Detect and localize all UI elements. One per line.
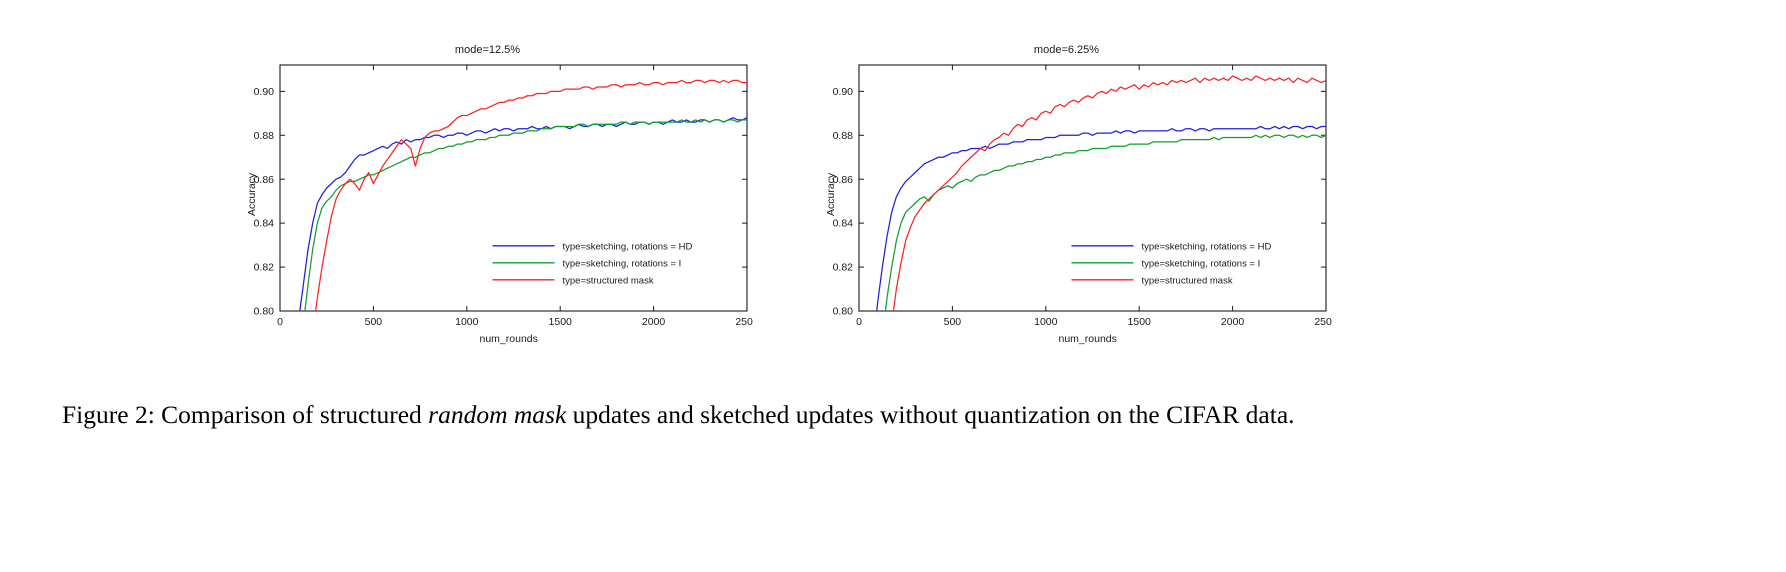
- svg-text:0.90: 0.90: [254, 86, 275, 98]
- chart-panels: mode=12.5% Accuracy num_rounds 050010001…: [222, 38, 1332, 348]
- svg-text:0: 0: [856, 316, 862, 328]
- svg-text:0.86: 0.86: [833, 174, 854, 186]
- svg-text:0.80: 0.80: [833, 306, 854, 318]
- caption-suffix: updates and sketched updates without qua…: [566, 400, 1294, 429]
- svg-text:type=sketching, rotations = I: type=sketching, rotations = I: [562, 258, 681, 269]
- svg-text:2500: 2500: [1314, 316, 1332, 328]
- svg-text:type=sketching, rotations = HD: type=sketching, rotations = HD: [562, 241, 692, 252]
- svg-text:0.84: 0.84: [254, 218, 275, 230]
- plot-area-right: 050010001500200025000.800.820.840.860.88…: [801, 38, 1332, 348]
- svg-text:1000: 1000: [1034, 316, 1058, 328]
- chart-panel-left: mode=12.5% Accuracy num_rounds 050010001…: [222, 38, 753, 348]
- svg-text:2000: 2000: [1221, 316, 1245, 328]
- svg-text:0.80: 0.80: [254, 306, 275, 318]
- svg-text:1000: 1000: [455, 316, 479, 328]
- svg-text:type=sketching, rotations = I: type=sketching, rotations = I: [1141, 258, 1260, 269]
- svg-text:type=structured mask: type=structured mask: [562, 275, 653, 286]
- svg-text:type=sketching, rotations = HD: type=sketching, rotations = HD: [1141, 241, 1271, 252]
- svg-text:type=structured mask: type=structured mask: [1141, 275, 1232, 286]
- chart-panel-right: mode=6.25% Accuracy num_rounds 050010001…: [801, 38, 1332, 348]
- plot-area-left: 050010001500200025000.800.820.840.860.88…: [222, 38, 753, 348]
- svg-text:0: 0: [277, 316, 283, 328]
- svg-text:500: 500: [365, 316, 383, 328]
- svg-text:0.82: 0.82: [254, 262, 275, 274]
- caption-prefix: Figure 2: Comparison of structured: [62, 400, 428, 429]
- svg-text:0.88: 0.88: [833, 130, 854, 142]
- svg-text:500: 500: [944, 316, 962, 328]
- svg-text:1500: 1500: [549, 316, 573, 328]
- svg-text:0.88: 0.88: [254, 130, 275, 142]
- svg-text:0.86: 0.86: [254, 174, 275, 186]
- svg-text:2500: 2500: [735, 316, 753, 328]
- svg-text:0.84: 0.84: [833, 218, 854, 230]
- svg-text:1500: 1500: [1128, 316, 1152, 328]
- svg-text:2000: 2000: [642, 316, 666, 328]
- figure-caption: Figure 2: Comparison of structured rando…: [62, 398, 1722, 432]
- caption-italic-term: random mask: [428, 400, 566, 429]
- svg-text:0.90: 0.90: [833, 86, 854, 98]
- svg-text:0.82: 0.82: [833, 262, 854, 274]
- figure-2: mode=12.5% Accuracy num_rounds 050010001…: [0, 0, 1786, 390]
